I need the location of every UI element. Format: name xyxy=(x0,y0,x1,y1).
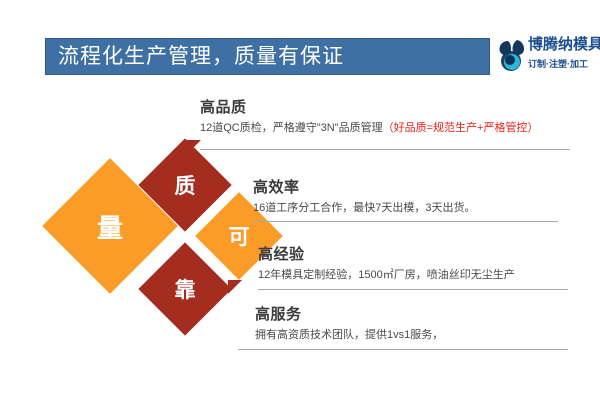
feature-desc-experience: 12年模具定制经验，1500㎡厂房，喷油丝印无尘生产 xyxy=(258,267,515,283)
logo-text-group: 博腾纳模具 订制·注塑·加工 xyxy=(528,36,594,72)
feature-block-experience: 高经验 12年模具定制经验，1500㎡厂房，喷油丝印无尘生产 xyxy=(258,245,515,283)
feature-block-efficiency: 高效率 16道工序分工合作，最快7天出模，3天出货。 xyxy=(253,178,475,216)
droplets-icon xyxy=(495,38,527,72)
slide-canvas: 流程化生产管理，质量有保证 博腾纳模具 订制·注塑·加工 量 质 可 靠 xyxy=(0,0,600,400)
feature-title-efficiency: 高效率 xyxy=(253,178,475,197)
page-title: 流程化生产管理，质量有保证 xyxy=(58,43,344,71)
feature-desc-quality-highlight: （好品质=规范生产+严格管控） xyxy=(383,122,539,134)
diamond-kao-label: 靠 xyxy=(175,274,196,304)
divider-efficiency xyxy=(253,221,558,222)
diamond-zhi-label: 质 xyxy=(175,170,196,200)
diamond-kao: 靠 xyxy=(152,256,218,322)
divider-service xyxy=(238,349,568,350)
triangle-marker-experience-icon xyxy=(228,280,242,294)
feature-title-quality: 高品质 xyxy=(200,98,538,117)
company-logo: 博腾纳模具 订制·注塑·加工 xyxy=(495,34,595,78)
logo-company-name: 博腾纳模具 xyxy=(528,36,600,53)
feature-desc-quality: 12道QC质检，严格遵守"3N"品质管理（好品质=规范生产+严格管控） xyxy=(200,120,538,136)
feature-title-service: 高服务 xyxy=(255,305,443,324)
diamond-liang-label: 量 xyxy=(97,208,123,245)
diamond-liang: 量 xyxy=(62,178,158,274)
feature-desc-efficiency: 16道工序分工合作，最快7天出模，3天出货。 xyxy=(253,200,475,216)
feature-title-experience: 高经验 xyxy=(258,245,515,264)
diamond-ke-label: 可 xyxy=(229,221,250,251)
feature-block-service: 高服务 拥有高资质技术团队，提供1vs1服务， xyxy=(255,305,443,343)
feature-desc-quality-text: 12道QC质检，严格遵守"3N"品质管理 xyxy=(200,122,383,134)
divider-experience xyxy=(258,289,568,290)
divider-quality xyxy=(200,149,570,150)
triangle-marker-quality-icon xyxy=(185,140,201,156)
logo-subtitle: 订制·注塑·加工 xyxy=(528,59,588,69)
feature-block-quality: 高品质 12道QC质检，严格遵守"3N"品质管理（好品质=规范生产+严格管控） xyxy=(200,98,538,136)
feature-desc-service: 拥有高资质技术团队，提供1vs1服务， xyxy=(255,327,443,343)
